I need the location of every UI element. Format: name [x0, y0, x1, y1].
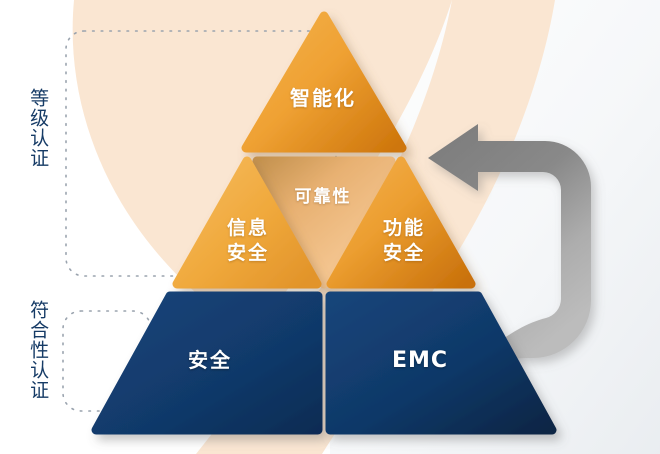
side-label-compliance: 符合性认证: [26, 300, 49, 400]
tier-bottom-left-shape: [96, 296, 318, 430]
tier-bottom-right-shape: [330, 296, 552, 430]
tier-top-shape: [246, 16, 402, 148]
diagram-canvas: 智能化 可靠性 信息 安全 功能 安全 安全 EMC 等级认证 符合性认证: [0, 0, 660, 454]
pyramid-shapes: [0, 0, 660, 454]
side-label-grade: 等级认证: [26, 88, 49, 168]
